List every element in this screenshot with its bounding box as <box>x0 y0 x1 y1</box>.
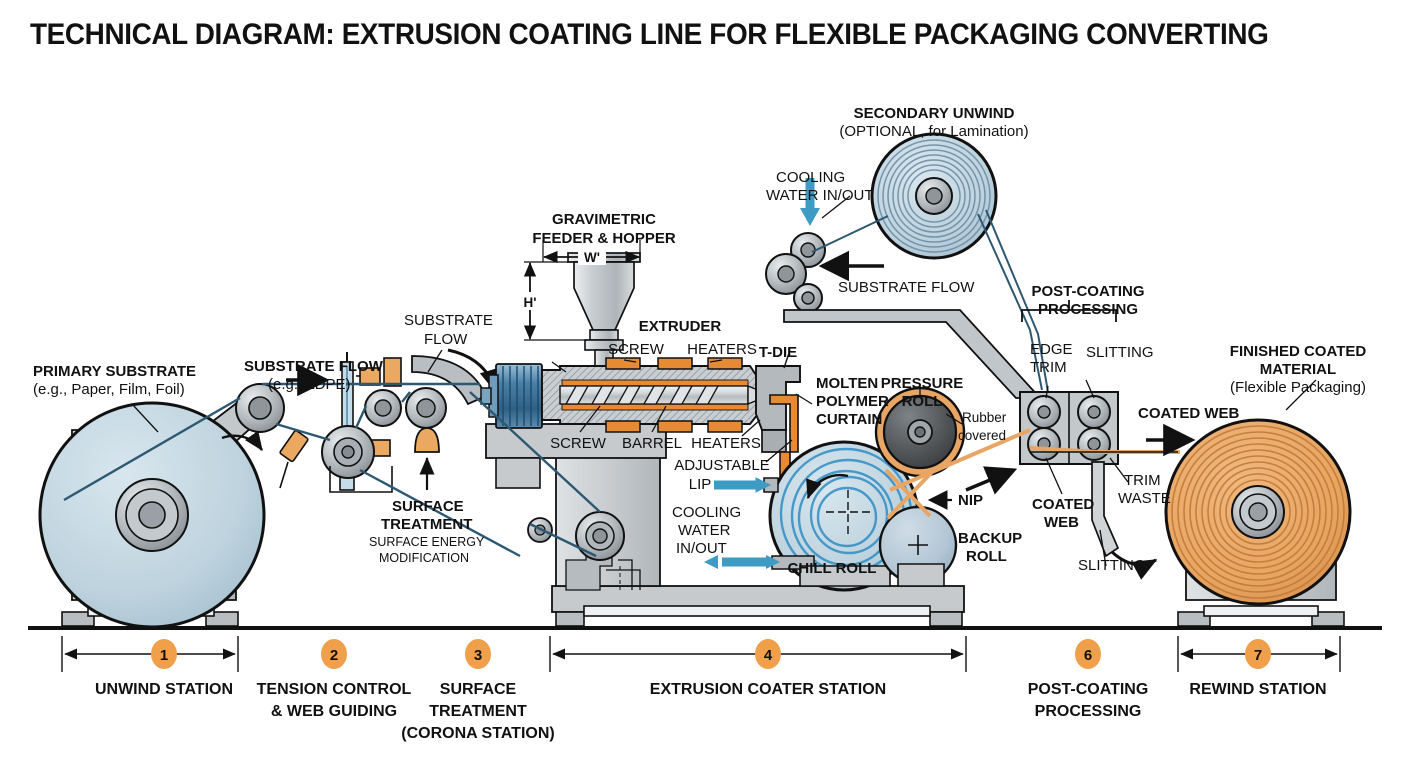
post-coating-group <box>1020 300 1156 565</box>
dim-h-label: H' <box>524 295 537 310</box>
rewind-station-group <box>1166 420 1350 626</box>
label-trim-waste-2: WASTE <box>1118 490 1171 507</box>
station-number: 7 <box>1254 647 1262 664</box>
label-coated-web-small-2: WEB <box>1044 514 1079 531</box>
label-heaters-top: HEATERS <box>687 341 757 358</box>
label-post-coating-2: PROCESSING <box>1038 301 1138 318</box>
label-cooling-3: IN/OUT <box>676 540 727 557</box>
station-label-line: SURFACE <box>440 681 517 698</box>
extruder-station-group: W' H' <box>481 240 964 626</box>
station-4: 4EXTRUSION COATER STATION <box>550 636 966 698</box>
label-screw-bot: SCREW <box>550 435 607 452</box>
label-gravimetric: GRAVIMETRIC <box>552 211 656 228</box>
label-edge-trim-2: TRIM <box>1030 359 1067 376</box>
label-screw-top: SCREW <box>608 341 665 358</box>
label-post-coating-1: POST-COATING <box>1031 283 1144 300</box>
label-substrate-flow-2b: FLOW <box>424 331 468 348</box>
label-molten-3: CURTAIN <box>816 411 882 428</box>
station-number: 2 <box>330 647 338 664</box>
station-number: 4 <box>764 647 773 664</box>
station-number: 6 <box>1084 647 1092 664</box>
label-edge-trim-1: EDGE <box>1030 341 1073 358</box>
label-substrate-flow-2a: SUBSTRATE <box>404 312 493 329</box>
label-backup-1: BACKUP <box>958 530 1022 547</box>
unwind-station-group <box>40 384 309 627</box>
label-coated-web-small-1: COATED <box>1032 496 1094 513</box>
label-coated-web-big: COATED WEB <box>1138 405 1240 422</box>
label-cooling-1: COOLING <box>672 504 741 521</box>
corona-treatment-group <box>415 428 439 490</box>
label-substrate-flow-ldpe: SUBSTRATE FLOW <box>244 358 384 375</box>
station-label-line: REWIND STATION <box>1189 681 1326 698</box>
coated-web-arrow-mid <box>966 470 1014 490</box>
label-adjustable: ADJUSTABLE <box>674 457 770 474</box>
heater-band-bot-1 <box>606 421 640 432</box>
label-modification: MODIFICATION <box>379 551 469 565</box>
diagram-canvas: TECHNICAL DIAGRAM: EXTRUSION COATING LIN… <box>0 0 1408 768</box>
station-label-line: UNWIND STATION <box>95 681 233 698</box>
station-7: 7REWIND STATION <box>1178 636 1340 698</box>
station-label-line: & WEB GUIDING <box>271 703 397 720</box>
station-legend: 1UNWIND STATION2TENSION CONTROL& WEB GUI… <box>62 636 1340 742</box>
label-surface-energy: SURFACE ENERGY <box>369 535 485 549</box>
heater-band-top-1 <box>606 358 640 369</box>
label-substrate-flow-ldpe-sub: (e.g., LDPE) <box>268 376 351 393</box>
label-surface-treatment-2: TREATMENT <box>381 516 472 533</box>
label-rubber-2: covered <box>958 428 1006 443</box>
label-extruder: EXTRUDER <box>639 318 722 335</box>
heater-band-bot-3 <box>708 421 742 432</box>
label-t-die: T-DIE <box>759 344 797 361</box>
dim-w-label: W' <box>584 250 600 265</box>
label-cooling-top-2: WATER IN/OUT <box>766 187 874 204</box>
label-rubber-1: Rubber <box>962 410 1007 425</box>
label-trim-waste-1: TRIM <box>1124 472 1161 489</box>
station-label-line: (CORONA STATION) <box>401 725 554 742</box>
unwind-sensor <box>279 430 308 488</box>
station-2: 2TENSION CONTROL& WEB GUIDING <box>257 639 412 720</box>
label-primary-substrate-sub: (e.g., Paper, Film, Foil) <box>33 381 185 398</box>
station-label-line: POST-COATING <box>1028 681 1149 698</box>
station-label-line: TREATMENT <box>429 703 527 720</box>
label-pressure-roll-2: ROLL <box>902 393 943 410</box>
label-chill-roll: CHILL ROLL <box>788 560 877 577</box>
station-label-line: TENSION CONTROL <box>257 681 412 698</box>
station-1: 1UNWIND STATION <box>62 636 238 698</box>
label-substrate-flow-3: SUBSTRATE FLOW <box>838 279 975 296</box>
station-number: 1 <box>160 647 168 664</box>
label-slitting-top: SLITTING <box>1086 344 1154 361</box>
extruder-barrel <box>542 358 770 432</box>
label-backup-2: ROLL <box>966 548 1007 565</box>
label-secondary-unwind-sub: (OPTIONAL, for Lamination) <box>839 123 1028 140</box>
label-molten-1: MOLTEN <box>816 375 878 392</box>
label-finished-1: FINISHED COATED <box>1230 343 1367 360</box>
station-label-line: EXTRUSION COATER STATION <box>650 681 886 698</box>
station-label-line: PROCESSING <box>1035 703 1142 720</box>
station-number: 3 <box>474 647 482 664</box>
label-lip: LIP <box>689 476 712 493</box>
label-cooling-2: WATER <box>678 522 731 539</box>
label-pressure-roll-1: PRESSURE <box>881 375 964 392</box>
label-finished-2: MATERIAL <box>1260 361 1336 378</box>
heater-band-top-2 <box>658 358 692 369</box>
tension-sensor-2 <box>384 358 401 386</box>
heater-band-bot-2 <box>658 421 692 432</box>
corona-electrode <box>415 428 439 452</box>
label-slitting-bot: SLITTING <box>1078 557 1146 574</box>
extrusion-coating-line-diagram: W' H' <box>0 0 1408 768</box>
label-heaters-bot: HEATERS <box>691 435 761 452</box>
trim-waste-chute <box>1092 462 1118 556</box>
label-feeder-hopper: FEEDER & HOPPER <box>532 230 676 247</box>
label-surface-treatment-1: SURFACE <box>392 498 464 515</box>
label-barrel: BARREL <box>622 435 682 452</box>
station-6: 6POST-COATINGPROCESSING <box>1028 639 1149 720</box>
label-secondary-unwind: SECONDARY UNWIND <box>854 105 1015 122</box>
heater-band-top-3 <box>708 358 742 369</box>
label-cooling-top-1: COOLING <box>776 169 845 186</box>
station-3: 3SURFACETREATMENT(CORONA STATION) <box>401 639 554 742</box>
label-primary-substrate: PRIMARY SUBSTRATE <box>33 363 196 380</box>
label-finished-sub: (Flexible Packaging) <box>1230 379 1366 396</box>
extruder-drive-motor <box>481 364 542 428</box>
label-nip: NIP <box>958 492 983 509</box>
label-molten-2: POLYMER <box>816 393 889 410</box>
